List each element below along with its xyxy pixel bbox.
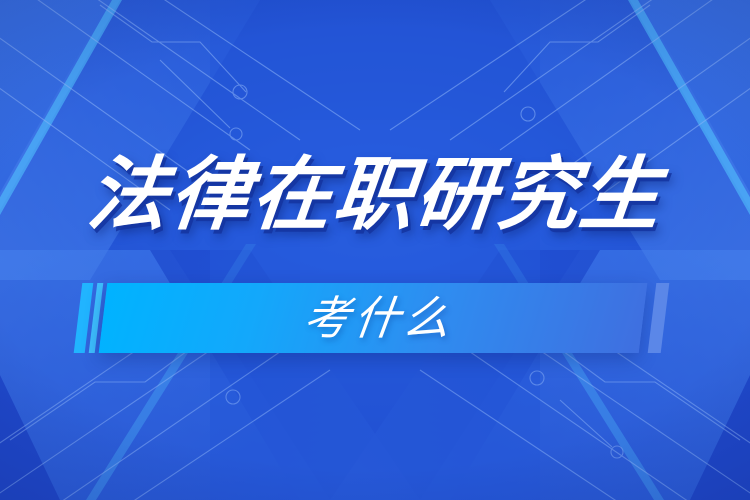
decor-slash-right [648,283,670,353]
center-wedge [210,0,540,500]
subtitle-text-wrap: 考什么 [103,283,643,353]
vignette-overlay [0,0,750,500]
circuit-line-pattern [0,0,750,500]
chevron-right-group [330,0,750,500]
subtitle-area: 考什么 [0,283,750,353]
promo-banner: 法律在职研究生 考什么 [0,0,750,500]
title-area: 法律在职研究生 [0,140,750,250]
chevron-left-group [0,0,420,500]
background-base [0,0,750,500]
subtitle-text: 考什么 [301,295,457,341]
chevron-pattern [0,0,750,500]
page-title: 法律在职研究生 [84,155,666,235]
